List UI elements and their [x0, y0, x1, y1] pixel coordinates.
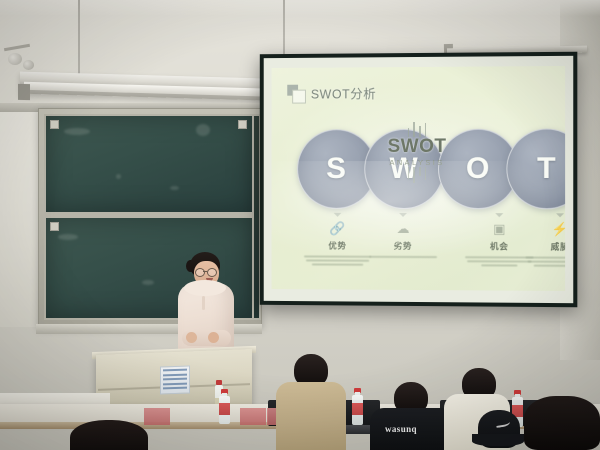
glasses-icon [195, 268, 217, 275]
wall-sensor-icon [23, 60, 34, 70]
chevron-down-icon [334, 213, 342, 217]
light-suspension-rod [78, 0, 80, 78]
chalkboard-panel-upper [44, 114, 254, 214]
lightning-icon: ⚡ [523, 220, 566, 238]
drawstring [202, 296, 205, 310]
column-label-strengths: 优势 [301, 240, 374, 252]
tick-marks-icon [362, 121, 472, 137]
bubble-letter-t: T [537, 152, 557, 186]
slide-title-text: SWOT分析 [311, 83, 376, 102]
hand [208, 332, 219, 343]
classroom-photo: SWOT分析 S W [0, 0, 600, 450]
slide-title: SWOT分析 [287, 83, 376, 102]
chevron-down-icon [556, 213, 564, 217]
desk-card [240, 408, 266, 425]
swot-column-strengths: 🔗 优势 [301, 213, 374, 269]
presenter [168, 252, 240, 362]
swot-column-weaknesses: ☁ 劣势 [366, 213, 440, 260]
swot-column-threats: ⚡ 威胁 [523, 213, 566, 269]
square-marker-icon [287, 85, 304, 102]
projector-screen: SWOT分析 S W [260, 52, 578, 308]
student-foreground-right [524, 396, 600, 450]
left-wall-panel [0, 112, 38, 327]
swot-columns: 🔗 优势 ☁ 劣势 ▣ 机会 [272, 213, 566, 288]
column-body-text [301, 255, 374, 266]
wordmark-main: SWOT [362, 137, 472, 157]
swot-slide: SWOT分析 S W [272, 66, 566, 291]
screen-surface: SWOT分析 S W [264, 56, 574, 303]
podium-notice-label [160, 365, 190, 394]
tick-marks-icon [362, 167, 472, 183]
column-body-text [523, 257, 566, 268]
swot-wordmark: SWOT ANALYSIS [362, 121, 472, 183]
bubble-t: T [506, 128, 565, 209]
cloud-icon: ☁ [366, 220, 440, 238]
student-black-cap [470, 408, 532, 450]
ceiling [0, 0, 600, 16]
student-tan-jacket [276, 354, 346, 450]
chevron-down-icon [495, 213, 503, 217]
column-label-weaknesses: 劣势 [366, 240, 440, 252]
chevron-down-icon [399, 213, 407, 217]
student-foreground-left [70, 420, 148, 450]
wordmark-sub: ANALYSIS [362, 158, 472, 167]
link-icon: 🔗 [301, 220, 374, 238]
bubble-letter-s: S [326, 152, 347, 186]
hood-collar [184, 280, 226, 296]
light-end-cap [18, 84, 30, 100]
jacket-logo-text: wasunq [385, 424, 417, 434]
column-label-threats: 威胁 [523, 240, 566, 252]
wall-speaker-icon [8, 53, 22, 65]
column-body-text [366, 256, 440, 258]
hand [186, 332, 197, 343]
